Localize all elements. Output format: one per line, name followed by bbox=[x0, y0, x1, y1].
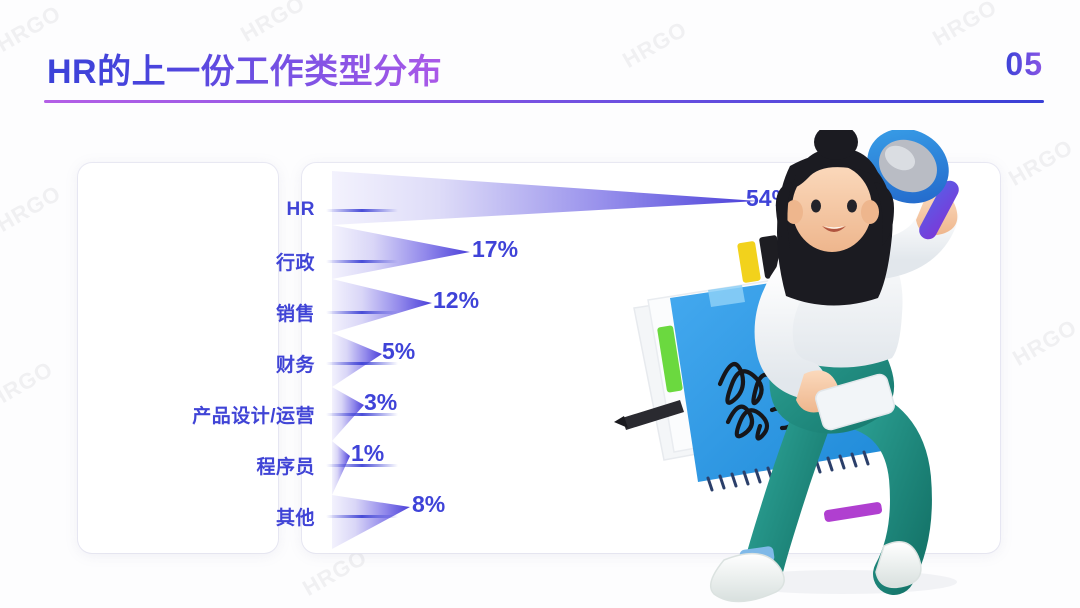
header-divider bbox=[44, 100, 1044, 103]
category-label: 销售 bbox=[276, 299, 315, 326]
category-label: 财务 bbox=[276, 350, 315, 377]
connector-line-icon bbox=[326, 464, 398, 467]
connector-line-icon bbox=[326, 209, 398, 212]
ear bbox=[861, 200, 879, 224]
category-row[interactable]: 产品设计/运营 bbox=[78, 399, 398, 429]
category-row[interactable]: 行政 bbox=[78, 246, 398, 276]
eye bbox=[847, 200, 857, 213]
watermark-text: HRGO bbox=[0, 356, 58, 414]
category-row[interactable]: 销售 bbox=[78, 297, 398, 327]
category-row[interactable]: 其他 bbox=[78, 501, 398, 531]
category-label-column: HR 行政 销售 财务 产品设计/运营 程序员 其他 bbox=[78, 163, 398, 553]
connector-line-icon bbox=[326, 311, 398, 314]
value-label: 8% bbox=[412, 491, 445, 518]
hero-illustration bbox=[612, 130, 1032, 608]
category-label: HR bbox=[287, 199, 315, 221]
value-label: 17% bbox=[472, 236, 518, 263]
back-shoe bbox=[876, 542, 921, 588]
category-row[interactable]: 财务 bbox=[78, 348, 398, 378]
connector-line-icon bbox=[326, 515, 398, 518]
front-shoe bbox=[711, 554, 785, 602]
category-label: 程序员 bbox=[256, 452, 315, 479]
value-label: 12% bbox=[433, 287, 479, 314]
slide-header: HR的上一份工作类型分布 05 bbox=[0, 0, 1080, 112]
category-row[interactable]: 程序员 bbox=[78, 450, 398, 480]
slide-root: HRGO HRGO HRGO HRGO HRGO HRGO HRGO HRGO … bbox=[0, 0, 1080, 608]
category-label: 产品设计/运营 bbox=[192, 401, 315, 428]
page-number: 05 bbox=[1005, 46, 1043, 83]
watermark-text: HRGO bbox=[0, 180, 66, 238]
connector-line-icon bbox=[326, 362, 398, 365]
category-row[interactable]: HR bbox=[78, 195, 398, 225]
page-title: HR的上一份工作类型分布 bbox=[47, 44, 442, 93]
connector-line-icon bbox=[326, 413, 398, 416]
category-label: 其他 bbox=[276, 503, 315, 530]
category-label: 行政 bbox=[276, 248, 315, 275]
eye bbox=[811, 200, 821, 213]
connector-line-icon bbox=[326, 260, 398, 263]
